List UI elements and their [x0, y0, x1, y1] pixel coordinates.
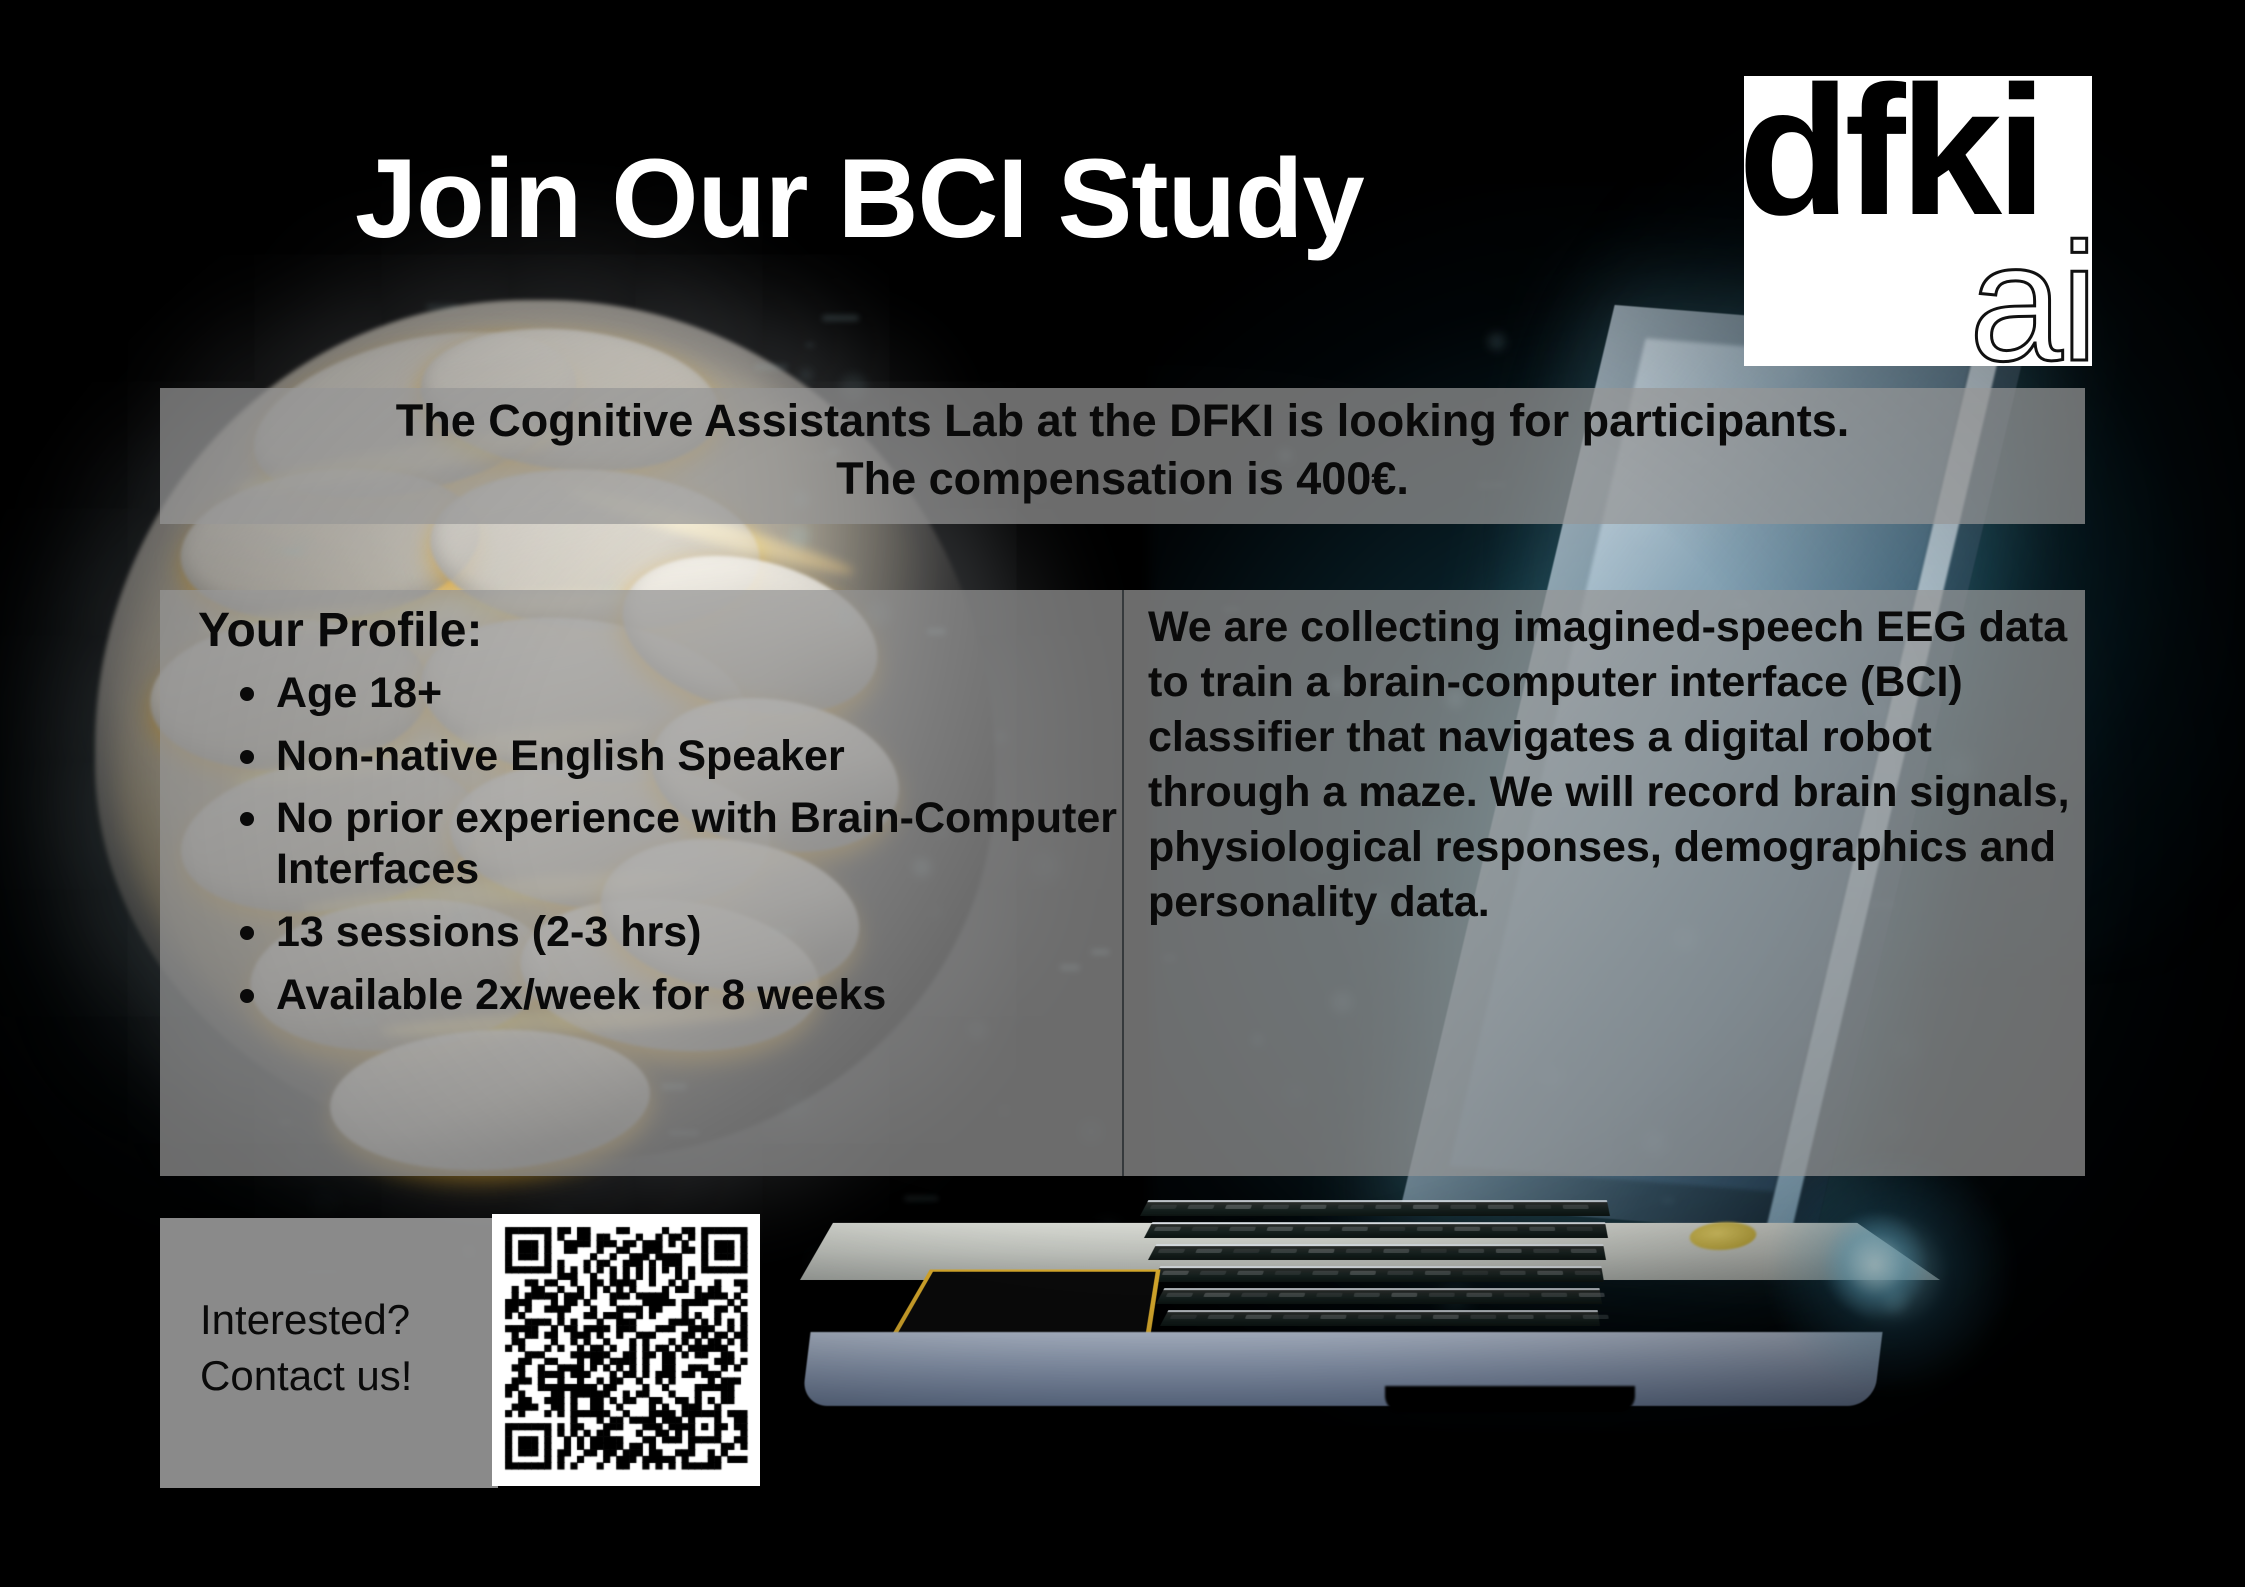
bokeh-speck: [754, 364, 788, 370]
profile-list-item: Available 2x/week for 8 weeks: [276, 970, 1156, 1021]
page-title: Join Our BCI Study: [355, 140, 1364, 258]
laptop-keycap: [1241, 1293, 1268, 1297]
laptop-keycap: [1379, 1227, 1405, 1231]
bokeh-speck: [426, 304, 459, 309]
laptop-keycap: [1207, 1315, 1234, 1319]
dfki-ai-outline: ai: [1969, 218, 2092, 366]
laptop-keycap: [1387, 1271, 1413, 1275]
laptop-keycap: [1375, 1205, 1401, 1209]
laptop-keycap: [1563, 1205, 1589, 1209]
profile-list-item: Age 18+: [276, 668, 1156, 719]
laptop-keycap: [1266, 1227, 1293, 1231]
bokeh-speck: [284, 549, 301, 554]
laptop-keycap: [1466, 1293, 1492, 1297]
laptop-keycap: [1545, 1315, 1571, 1319]
laptop-key-row: [1144, 1224, 1608, 1238]
laptop-keycap: [1529, 1227, 1555, 1231]
banner-line-1: The Cognitive Assistants Lab at the DFKI…: [160, 392, 2085, 450]
laptop-keycap: [1425, 1271, 1451, 1275]
laptop-keycap: [1395, 1315, 1421, 1319]
laptop-keycap: [1199, 1271, 1226, 1275]
laptop-keycap: [1537, 1271, 1563, 1275]
laptop-keycap: [1533, 1249, 1559, 1253]
laptop-keycap: [1500, 1271, 1526, 1275]
laptop-keycap: [1541, 1293, 1567, 1297]
profile-list-item: No prior experience with Brain-Computer …: [276, 793, 1156, 894]
laptop-keycap: [1342, 1227, 1369, 1231]
laptop-keycap: [1429, 1293, 1455, 1297]
contact-line-1: Interested?: [200, 1292, 412, 1348]
banner-text: The Cognitive Assistants Lab at the DFKI…: [160, 392, 2085, 507]
laptop-keycap: [1433, 1315, 1459, 1319]
laptop-keycap: [1391, 1293, 1417, 1297]
laptop-keycap: [1170, 1315, 1198, 1319]
laptop-keycap: [1417, 1227, 1443, 1231]
contact-text: Interested? Contact us!: [200, 1292, 412, 1405]
laptop-keycap: [1346, 1249, 1373, 1253]
laptop-keycap: [1166, 1293, 1194, 1297]
bokeh-speck: [788, 525, 810, 547]
laptop-keycap: [1496, 1249, 1522, 1253]
laptop-keycap: [1338, 1205, 1365, 1209]
laptop-keycap: [1154, 1227, 1182, 1231]
laptop-keycap: [1488, 1205, 1514, 1209]
laptop-keycap: [1579, 1293, 1605, 1297]
laptop-keycap: [1350, 1271, 1377, 1275]
laptop-keycap: [1492, 1227, 1518, 1231]
laptop-keycap: [1274, 1271, 1301, 1275]
dfki-logo: dfki ai: [1744, 76, 2092, 366]
laptop-key-row: [1148, 1246, 1606, 1260]
laptop-keycap: [1158, 1249, 1186, 1253]
laptop-key-row: [1140, 1202, 1610, 1216]
laptop-key-row: [1156, 1290, 1602, 1304]
laptop-keycap: [1316, 1293, 1343, 1297]
bokeh-speck: [801, 370, 811, 380]
study-description: We are collecting imagined-speech EEG da…: [1148, 600, 2078, 930]
laptop-keycap: [1233, 1249, 1260, 1253]
laptop-keycap: [1150, 1205, 1178, 1209]
laptop-touchpad: [890, 1270, 1160, 1338]
laptop-keycap: [1462, 1271, 1488, 1275]
laptop-keycap: [1458, 1249, 1484, 1253]
laptop-keycap: [1262, 1205, 1289, 1209]
laptop-keycap: [1270, 1249, 1297, 1253]
laptop-keycap: [1470, 1315, 1496, 1319]
laptop-latch-notch: [1385, 1386, 1635, 1412]
laptop-keycap: [1450, 1205, 1476, 1209]
laptop-keycap: [1504, 1293, 1530, 1297]
qr-code-canvas[interactable]: [492, 1214, 760, 1486]
laptop-keycap: [1304, 1227, 1331, 1231]
bokeh-speck: [805, 342, 815, 348]
laptop-keycap: [1583, 1315, 1609, 1319]
laptop-keycap: [1300, 1205, 1327, 1209]
laptop-keycap: [1454, 1227, 1480, 1231]
bokeh-speck: [822, 315, 859, 321]
laptop-key-row: [1160, 1312, 1600, 1326]
laptop-keycap: [1278, 1293, 1305, 1297]
banner-line-2: The compensation is 400€.: [160, 450, 2085, 508]
laptop-keycap: [1571, 1249, 1597, 1253]
profile-list: Age 18+Non-native English SpeakerNo prio…: [228, 668, 1156, 1032]
bokeh-speck: [904, 1196, 939, 1201]
laptop-keycap: [1195, 1249, 1222, 1253]
laptop-keycap: [1354, 1293, 1381, 1297]
laptop-front-edge: [801, 1332, 1882, 1406]
laptop-lens-flare-core: [1820, 1210, 1930, 1320]
laptop-keycap: [1203, 1293, 1230, 1297]
laptop-keycap: [1320, 1315, 1347, 1319]
laptop-key-row: [1152, 1268, 1604, 1282]
laptop-keycap: [1413, 1205, 1439, 1209]
laptop-keycap: [1358, 1315, 1385, 1319]
bokeh-speck: [313, 1192, 336, 1215]
laptop-keycap: [1187, 1205, 1214, 1209]
laptop-keycap: [1229, 1227, 1256, 1231]
laptop-keycap: [1525, 1205, 1551, 1209]
laptop-keycap: [1245, 1315, 1272, 1319]
laptop-keycap: [1237, 1271, 1264, 1275]
laptop-keycap: [1421, 1249, 1447, 1253]
laptop-keycap: [1312, 1271, 1339, 1275]
contact-line-2: Contact us!: [200, 1348, 412, 1404]
qr-code[interactable]: [492, 1214, 760, 1486]
laptop-keycap: [1508, 1315, 1534, 1319]
profile-list-item: Non-native English Speaker: [276, 731, 1156, 782]
laptop-keycap: [1575, 1271, 1601, 1275]
profile-heading: Your Profile:: [198, 603, 482, 658]
laptop-keycap: [1162, 1271, 1190, 1275]
laptop-keycap: [1191, 1227, 1218, 1231]
laptop-keycap: [1308, 1249, 1335, 1253]
poster-root: Join Our BCI Study dfki ai The Cognitive…: [0, 0, 2245, 1587]
laptop-keycap: [1225, 1205, 1252, 1209]
laptop-keycap: [1282, 1315, 1309, 1319]
profile-list-item: 13 sessions (2-3 hrs): [276, 907, 1156, 958]
laptop-keycap: [1567, 1227, 1593, 1231]
laptop-keycap: [1383, 1249, 1409, 1253]
